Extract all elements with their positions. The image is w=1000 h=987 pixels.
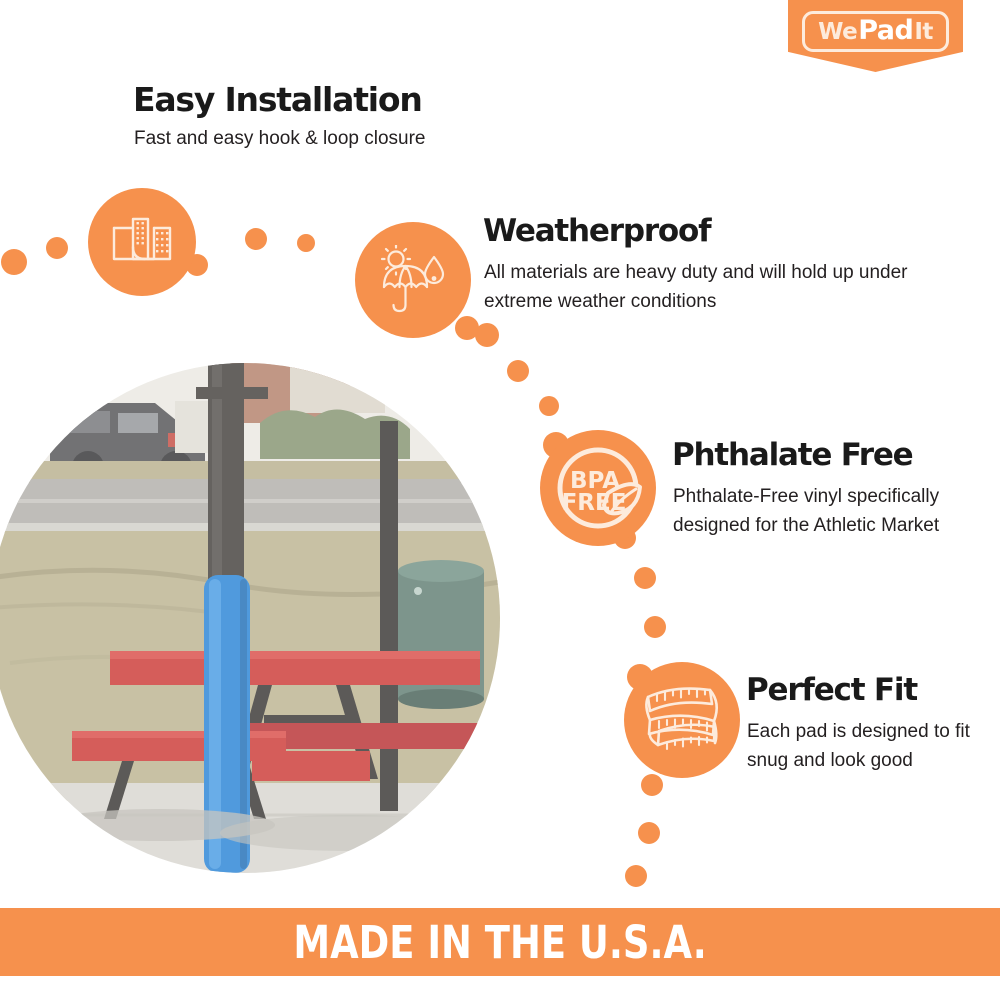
feature-title-phthalate-free: Phthalate Free xyxy=(672,437,913,473)
feature-title-easy-installation: Easy Installation xyxy=(133,80,422,119)
brand-logo-text-we: We xyxy=(818,21,857,44)
feature-title-weatherproof: Weatherproof xyxy=(483,213,710,249)
brand-logo-outline: We Pad It xyxy=(802,11,949,52)
trail-dot xyxy=(297,234,315,252)
brand-logo-text-pad: Pad xyxy=(857,17,914,44)
brand-logo-badge: We Pad It xyxy=(788,0,963,72)
bpa-free-leaf-icon: BPA FREE xyxy=(540,430,656,546)
trail-dot xyxy=(46,237,68,259)
trail-dot xyxy=(539,396,559,416)
trail-dot xyxy=(638,822,660,844)
made-in-usa-banner: MADE IN THE U.S.A. xyxy=(0,908,1000,976)
made-in-usa-text: MADE IN THE U.S.A. xyxy=(293,916,706,969)
icon-accent-nub-2 xyxy=(455,316,479,340)
trail-dot xyxy=(625,865,647,887)
brand-logo-text-it: It xyxy=(914,21,933,44)
trail-dot xyxy=(644,616,666,638)
trail-dot xyxy=(641,774,663,796)
bpa-icon-line2: FREE xyxy=(562,490,627,516)
velcro-hook-and-loop-icon xyxy=(88,188,196,296)
trail-dot xyxy=(507,360,529,382)
product-photo xyxy=(0,363,500,873)
trail-dot xyxy=(634,567,656,589)
feature-description-easy-installation: Fast and easy hook & loop closure xyxy=(134,126,426,152)
umbrella-sun-raindrop-icon xyxy=(355,222,471,338)
measuring-tape-icon xyxy=(624,662,740,778)
feature-description-weatherproof: All materials are heavy duty and will ho… xyxy=(484,258,914,316)
feature-description-perfect-fit: Each pad is designed to fit snug and loo… xyxy=(747,717,987,775)
feature-title-perfect-fit: Perfect Fit xyxy=(746,672,917,708)
trail-dot xyxy=(245,228,267,250)
trail-dot xyxy=(1,249,27,275)
feature-description-phthalate-free: Phthalate-Free vinyl specifically design… xyxy=(673,482,973,540)
infographic-canvas: We Pad It xyxy=(0,0,1000,987)
